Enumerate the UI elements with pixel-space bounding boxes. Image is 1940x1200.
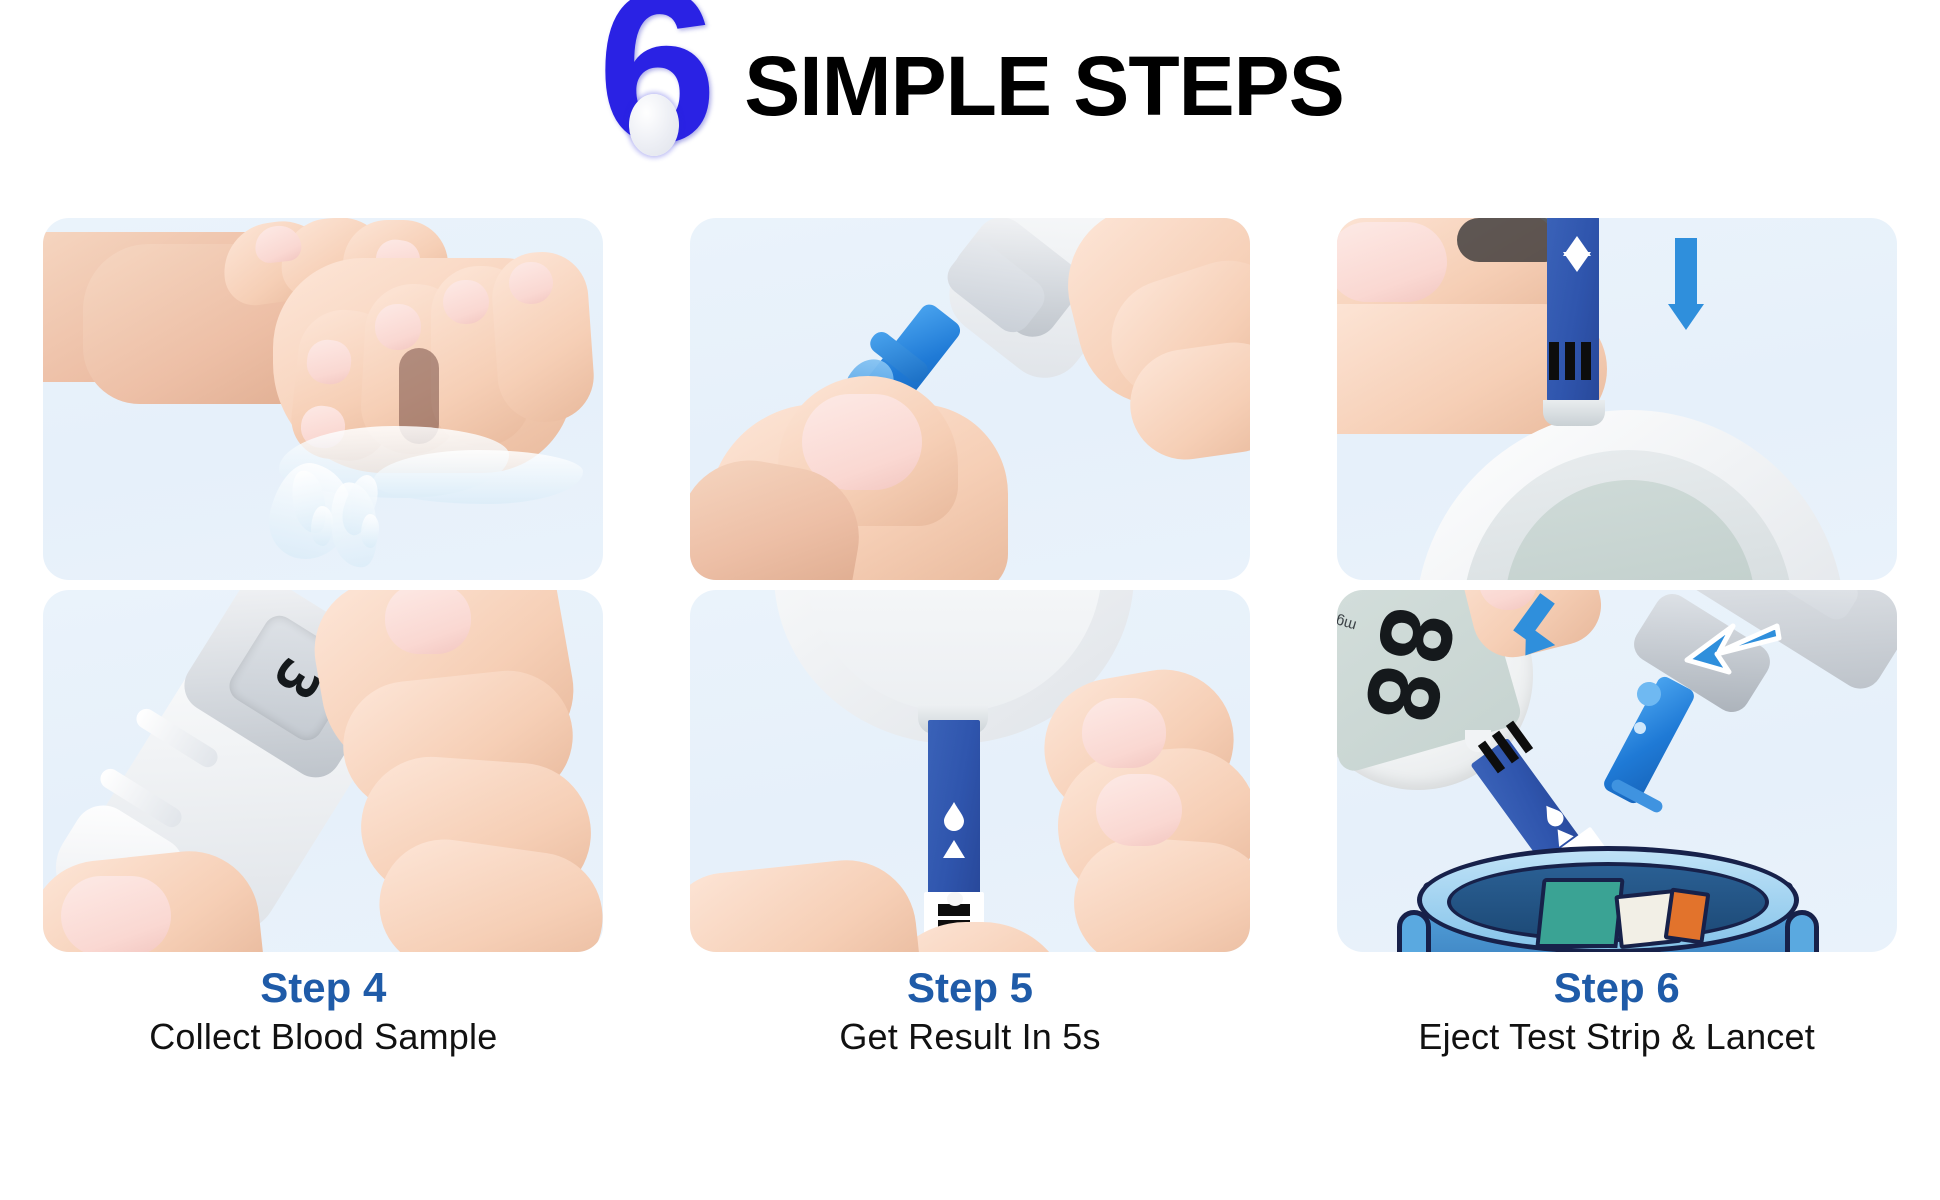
step-desc-5: Get Result In 5s [647,1016,1294,1058]
step-card-6: 88 mg/dL [1293,590,1940,952]
blood-drop-icon [942,800,966,832]
page-title: SIMPLE STEPS [744,44,1343,132]
step-desc-4: Collect Blood Sample [0,1016,647,1058]
art-get-result [690,590,1250,952]
step-card-1: Step 1 Clean And Dry Your Hands [0,218,647,580]
step-image-2 [690,218,1250,580]
step-title-6: Step 6 [1293,966,1940,1010]
step-image-5 [690,590,1250,952]
steps-grid: Step 1 Clean And Dry Your Hands [0,218,1940,952]
art-install-lancet [690,218,1250,580]
step-card-4: 3 Step 4 [0,590,647,952]
art-washing-hands [43,218,603,580]
step-image-1 [43,218,603,580]
art-collect-blood-sample: 3 [43,590,603,952]
step-card-3: Step 3 Insert The Strip [1293,218,1940,580]
step-caption-4: Step 4 Collect Blood Sample [0,966,647,1058]
step-desc-6: Eject Test Strip & Lancet [1293,1016,1940,1058]
hero-number-inner-hole [629,94,679,156]
hero-number-6: 6 [596,8,714,168]
step-card-5: Step 5 Get Result In 5s [647,590,1294,952]
step-title-5: Step 5 [647,966,1294,1010]
eject-arrow-icon [1673,618,1783,690]
step-card-2: Step 2 Install The Lancet [647,218,1294,580]
infographic-page: 6 SIMPLE STEPS [0,0,1940,1200]
page-header: 6 SIMPLE STEPS [0,8,1940,168]
step-caption-6: Step 6 Eject Test Strip & Lancet [1293,966,1940,1058]
step-image-6: 88 mg/dL [1337,590,1897,952]
step-caption-5: Step 5 Get Result In 5s [647,966,1294,1058]
art-eject-strip-and-lancet: 88 mg/dL [1337,590,1897,952]
step-title-4: Step 4 [0,966,647,1010]
step-image-4: 3 [43,590,603,952]
step-image-3 [1337,218,1897,580]
art-insert-strip [1337,218,1897,580]
